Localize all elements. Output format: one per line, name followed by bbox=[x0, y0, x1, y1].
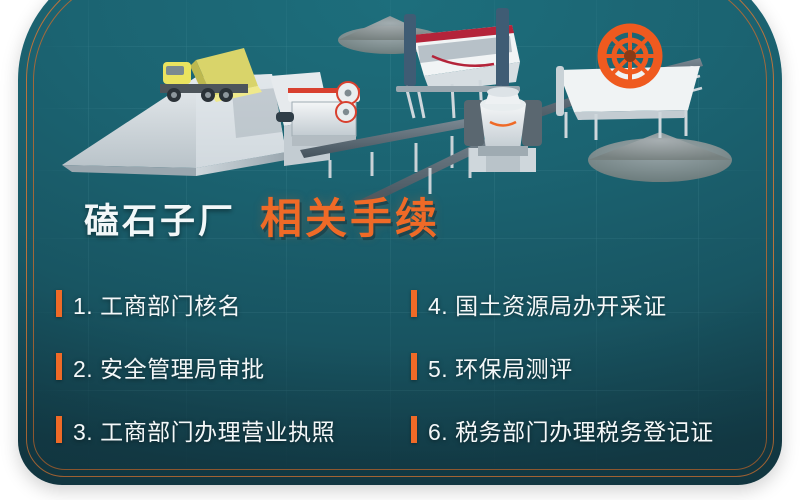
procedure-list: 1. 工商部门核名 4. 国土资源局办开采证 2. 安全管理局审批 5. 环保局… bbox=[56, 272, 756, 461]
dump-truck-yellow bbox=[160, 48, 262, 102]
bullet-bar-icon bbox=[56, 416, 62, 443]
sand-washing-machine bbox=[556, 28, 700, 140]
list-item-label: 5. 环保局测评 bbox=[428, 350, 573, 384]
production-line-illustration bbox=[0, 0, 800, 200]
list-item-label: 1. 工商部门核名 bbox=[73, 287, 241, 321]
bullet-bar-icon bbox=[411, 290, 417, 317]
list-item: 5. 环保局测评 bbox=[411, 335, 756, 398]
list-item: 2. 安全管理局审批 bbox=[56, 335, 411, 398]
list-item-label: 4. 国土资源局办开采证 bbox=[428, 287, 667, 321]
bullet-bar-icon bbox=[56, 353, 62, 380]
headline-highlight: 相关手续 bbox=[260, 198, 440, 240]
cone-crusher bbox=[464, 87, 542, 172]
list-item: 1. 工商部门核名 bbox=[56, 272, 411, 335]
bullet-bar-icon bbox=[411, 416, 417, 443]
bullet-bar-icon bbox=[411, 353, 417, 380]
list-item: 3. 工商部门办理营业执照 bbox=[56, 398, 411, 461]
list-item-label: 3. 工商部门办理营业执照 bbox=[73, 413, 335, 447]
list-item: 6. 税务部门办理税务登记证 bbox=[411, 398, 756, 461]
list-item-label: 6. 税务部门办理税务登记证 bbox=[428, 413, 714, 447]
list-item: 4. 国土资源局办开采证 bbox=[411, 272, 756, 335]
headline-subject: 磕石子厂 bbox=[84, 204, 236, 239]
headline: 磕石子厂 相关手续 bbox=[84, 198, 440, 240]
sand-wheel bbox=[602, 28, 658, 84]
list-item-label: 2. 安全管理局审批 bbox=[73, 350, 265, 384]
bullet-bar-icon bbox=[56, 290, 62, 317]
poster-canvas: 磕石子厂 相关手续 1. 工商部门核名 4. 国土资源局办开采证 2. 安全管理… bbox=[0, 0, 800, 500]
